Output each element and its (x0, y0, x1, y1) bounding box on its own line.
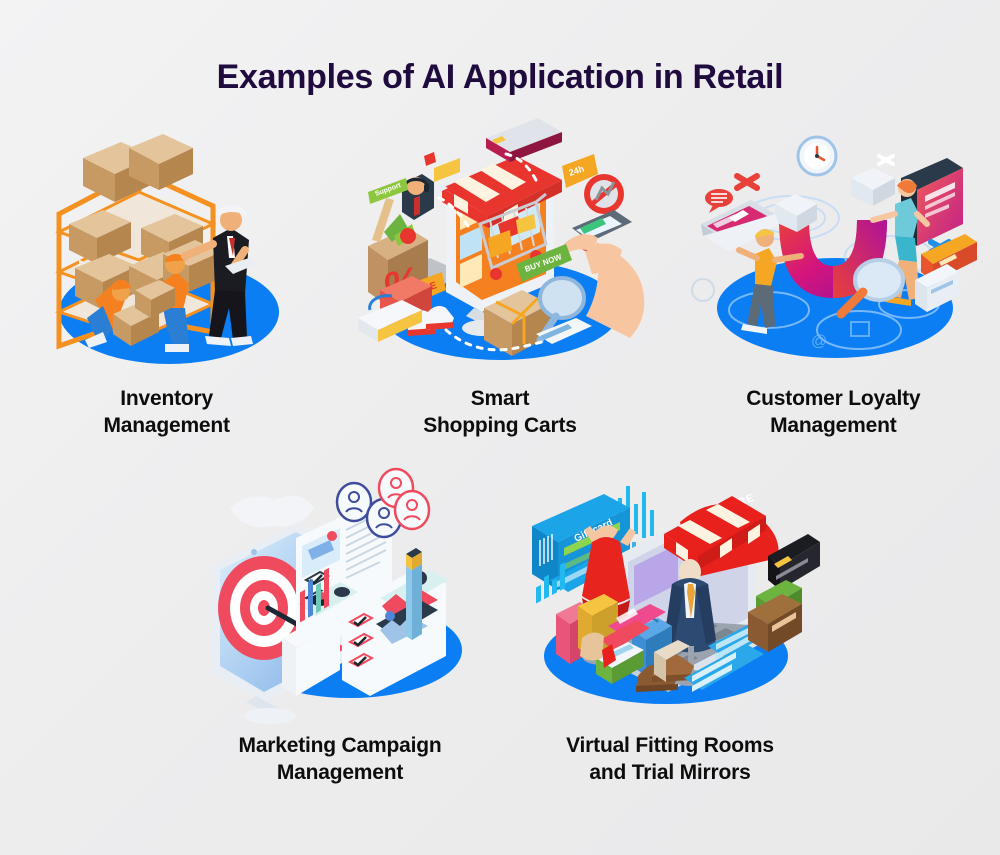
illustration-inventory-management (17, 132, 317, 372)
caption-line-2: Management (746, 413, 920, 440)
caption-line-2: Shopping Carts (423, 413, 577, 440)
caption-line-2: Management (103, 413, 229, 440)
bottom-row: Marketing Campaign Management (190, 480, 820, 787)
caption-customer-loyalty-management: Customer Loyalty Management (746, 386, 920, 440)
pencil-icon (406, 548, 422, 640)
caption-line-1: Marketing Campaign (239, 733, 442, 760)
credit-card (486, 118, 562, 162)
illustration-marketing-campaign-management (190, 480, 490, 715)
wallet-with-cash (748, 580, 802, 652)
caption-inventory-management: Inventory Management (103, 386, 229, 440)
caption-virtual-fitting-rooms: Virtual Fitting Rooms and Trial Mirrors (566, 733, 774, 787)
caption-marketing-campaign-management: Marketing Campaign Management (239, 733, 442, 787)
svg-text:@: @ (811, 333, 827, 350)
card-customer-loyalty-management: @ Customer Loyalty Management (675, 132, 991, 440)
card-virtual-fitting-rooms: Gift card (520, 480, 820, 787)
card-smart-shopping-carts: Support 24h (342, 132, 658, 440)
caption-line-2: Management (239, 760, 442, 787)
caption-line-1: Smart (423, 386, 577, 413)
caption-smart-shopping-carts: Smart Shopping Carts (423, 386, 577, 440)
infographic-page: Examples of AI Application in Retail (0, 0, 1000, 855)
illustration-smart-shopping-carts: Support 24h (350, 132, 650, 372)
caption-line-2: and Trial Mirrors (566, 760, 774, 787)
wall-clock-icon (798, 137, 836, 175)
cloud-decor (230, 496, 314, 528)
page-title: Examples of AI Application in Retail (0, 58, 1000, 97)
card-marketing-campaign-management: Marketing Campaign Management (190, 480, 490, 787)
top-row: Inventory Management (0, 132, 1000, 440)
card-inventory-management: Inventory Management (9, 132, 325, 440)
no-symbol-icon (584, 174, 624, 214)
illustration-virtual-fitting-rooms: Gift card (520, 480, 820, 715)
chat-bubble-icon (705, 189, 733, 213)
illustration-customer-loyalty-management: @ (683, 132, 983, 372)
caption-line-1: Virtual Fitting Rooms (566, 733, 774, 760)
caption-line-1: Customer Loyalty (746, 386, 920, 413)
caption-line-1: Inventory (103, 386, 229, 413)
